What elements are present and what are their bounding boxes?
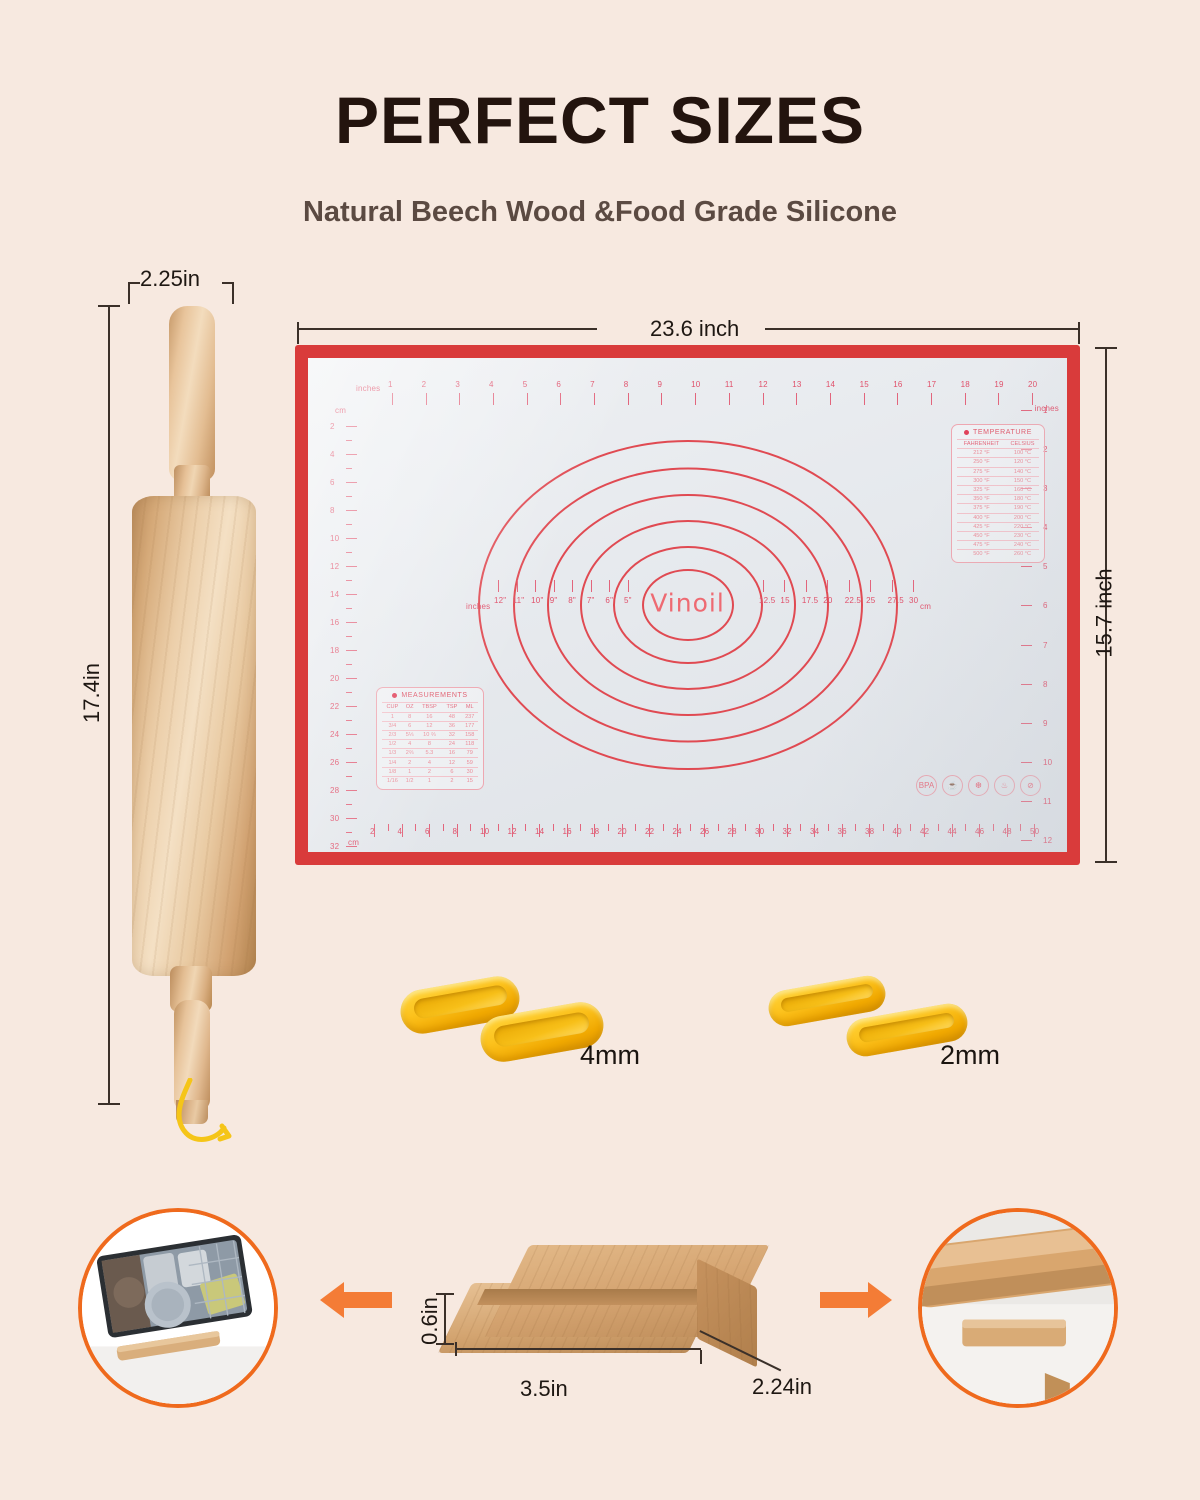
ruler-tick — [763, 393, 764, 405]
ruler-tick-label: 5 — [523, 380, 528, 389]
temperature-row: 450 °F230 °C — [957, 531, 1039, 540]
ruler-minor-tick — [346, 440, 352, 441]
temperature-row: 300 °F150 °C — [957, 476, 1039, 485]
ruler-tick-label: 8 — [1043, 680, 1048, 689]
measurements-cell: 1 — [382, 712, 403, 721]
ruler-tick-label: 27.5 — [888, 596, 904, 605]
phone-on-stand-illustration — [82, 1212, 274, 1404]
measurements-cell: 2 — [417, 767, 443, 776]
ruler-tick — [814, 824, 815, 837]
ruler-tick-label: 5" — [624, 596, 632, 605]
ring-inner-opening — [492, 1011, 590, 1048]
page-subtitle: Natural Beech Wood &Food Grade Silicone — [0, 196, 1200, 229]
stand-width-cap-left — [455, 1342, 457, 1356]
pin-length-cap-bottom — [98, 1103, 120, 1105]
ruler-tick — [842, 824, 843, 837]
ruler-tick-label: 24 — [330, 730, 339, 739]
temperature-cell: 500 °F — [957, 550, 1006, 559]
temperature-cell: 325 °F — [957, 485, 1006, 494]
measurements-cell: 158 — [461, 730, 478, 739]
yellow-hanging-loop-icon — [138, 1078, 258, 1148]
ruler-tick-label: 5 — [1043, 562, 1048, 571]
measurements-table: CUPOZTBSPTSPML 1816482373/4612361772/35⅓… — [382, 702, 478, 785]
ruler-tick — [527, 393, 528, 405]
ruler-tick — [759, 824, 760, 837]
ruler-tick — [426, 393, 427, 405]
ruler-tick — [346, 650, 357, 651]
temperature-cell: 190 °C — [1006, 504, 1039, 513]
beech-wood-rolling-pin-stand — [445, 1245, 785, 1395]
ruler-tick-label: 28 — [330, 786, 339, 795]
thickness-label-2mm: 2mm — [940, 1040, 1000, 1071]
center-inch-scale: 12"11"10"9"8"7"6"5" — [498, 590, 628, 622]
temperature-row: 325 °F160 °C — [957, 485, 1039, 494]
ruler-tick — [1032, 393, 1033, 405]
measurements-cell: 1 — [417, 776, 443, 785]
temperature-table-title: TEMPERATURE — [957, 429, 1039, 439]
measurements-cell: 30 — [461, 767, 478, 776]
temperature-row: 425 °F220 °C — [957, 522, 1039, 531]
temperature-table-body: 212 °F100 °C250 °F120 °C275 °F140 °C300 … — [957, 449, 1039, 559]
temperature-cell: 150 °C — [1006, 476, 1039, 485]
measurements-cell: 1/3 — [382, 749, 403, 758]
temperature-row: 400 °F200 °C — [957, 513, 1039, 522]
ruler-minor-tick — [828, 824, 829, 831]
ruler-tick — [594, 824, 595, 837]
beech-wood-rolling-pin — [110, 300, 300, 1140]
ruler-tick — [374, 824, 375, 837]
ruler-tick — [924, 824, 925, 837]
measurements-column-header: OZ — [403, 703, 417, 712]
silicone-pastry-mat: Vinoil inches inches 1234567891011121314… — [295, 345, 1080, 865]
ruler-minor-tick — [346, 636, 352, 637]
temperature-row: 350 °F180 °C — [957, 495, 1039, 504]
ruler-tick-label: 4 — [489, 380, 494, 389]
ruler-tick — [498, 580, 499, 592]
ruler-minor-tick — [635, 824, 636, 831]
measurements-cell: 32 — [442, 730, 461, 739]
ruler-tick — [849, 580, 850, 592]
bpa-free-icon: BPA — [916, 775, 937, 796]
ruler-tick — [346, 482, 357, 483]
measurements-row: 3/461236177 — [382, 721, 478, 730]
ruler-minor-tick — [346, 692, 352, 693]
ruler-tick — [560, 393, 561, 405]
ruler-tick — [1034, 824, 1035, 837]
ruler-tick — [965, 393, 966, 405]
pin-diameter-bracket-left-down — [128, 282, 130, 304]
measurements-cell: 36 — [442, 721, 461, 730]
top-ruler: 1234567891011121314151617181920 — [392, 380, 1032, 414]
ruler-minor-tick — [346, 496, 352, 497]
ruler-tick-label: 13 — [792, 380, 801, 389]
stand-depth-label: 2.24in — [752, 1374, 812, 1400]
bottom-left-cm-unit: cm — [348, 838, 359, 847]
stand-height-line — [444, 1293, 446, 1345]
temperature-row: 212 °F100 °C — [957, 449, 1039, 458]
measurements-cell: 59 — [461, 758, 478, 767]
temperature-cell: 400 °F — [957, 513, 1006, 522]
ruler-tick-label: 6" — [605, 596, 613, 605]
ruler-minor-tick — [910, 824, 911, 831]
temperature-cell: 180 °C — [1006, 495, 1039, 504]
ruler-minor-tick — [993, 824, 994, 831]
measurements-cell: 2 — [442, 776, 461, 785]
ruler-tick — [864, 393, 865, 405]
ruler-tick — [1021, 645, 1032, 646]
mat-width-label: 23.6 inch — [650, 316, 739, 342]
measurements-row: 2/35⅓10 ⅔32158 — [382, 730, 478, 739]
ruler-tick — [346, 426, 357, 427]
measurements-cell: 16 — [442, 749, 461, 758]
mat-width-cap-right — [1078, 322, 1080, 344]
ruler-minor-tick — [346, 524, 352, 525]
ruler-tick — [346, 818, 357, 819]
center-inch-unit: inches — [466, 602, 490, 611]
temperature-table-box: TEMPERATURE FAHRENHEITCELSIUS 212 °F100 … — [951, 424, 1045, 563]
measurements-cell: 15 — [461, 776, 478, 785]
stand-width-cap-right — [700, 1350, 702, 1364]
ruler-tick-label: 8" — [568, 596, 576, 605]
ruler-tick-label: 4 — [330, 450, 335, 459]
ruler-tick — [827, 580, 828, 592]
stand-width-line — [455, 1348, 701, 1350]
temperature-row: 475 °F240 °C — [957, 541, 1039, 550]
measurements-row: 1/32⅔5.31679 — [382, 749, 478, 758]
ruler-minor-tick — [800, 824, 801, 831]
infographic-root: PERFECT SIZES Natural Beech Wood &Food G… — [0, 0, 1200, 1500]
measurements-column-header: TBSP — [417, 703, 443, 712]
measurements-title-text: MEASUREMENTS — [401, 692, 467, 699]
left-ruler: 2468101214161820222426283032 — [330, 426, 364, 846]
ruler-tick — [346, 678, 357, 679]
temperature-row: 250 °F120 °C — [957, 458, 1039, 467]
pin-diameter-label: 2.25in — [140, 266, 200, 292]
ruler-tick-label: 15 — [780, 596, 789, 605]
ruler-tick — [732, 824, 733, 837]
temperature-column-header: FAHRENHEIT — [957, 440, 1006, 449]
stand-height-label: 0.6in — [417, 1297, 443, 1345]
ruler-tick-label: 10 — [330, 534, 339, 543]
temperature-cell: 200 °C — [1006, 513, 1039, 522]
temperature-cell: 260 °C — [1006, 550, 1039, 559]
ruler-tick-label: 12 — [759, 380, 768, 389]
heat-resistant-icon: ♨ — [994, 775, 1015, 796]
temperature-cell: 300 °F — [957, 476, 1006, 485]
ruler-tick-label: 12" — [494, 596, 506, 605]
bullet-dot-icon — [964, 430, 969, 435]
ruler-minor-tick — [346, 720, 352, 721]
ruler-tick — [677, 824, 678, 837]
top-left-cm-unit: cm — [335, 406, 346, 415]
ruler-minor-tick — [883, 824, 884, 831]
ruler-tick-label: 30 — [330, 814, 339, 823]
ruler-tick-label: 9 — [1043, 719, 1048, 728]
measurements-column-header: TSP — [442, 703, 461, 712]
ruler-minor-tick — [938, 824, 939, 831]
mat-width-cap-left — [297, 322, 299, 344]
stand-holding-rolling-pin-photo — [918, 1208, 1118, 1408]
ruler-minor-tick — [346, 776, 352, 777]
ruler-tick-label: 9" — [550, 596, 558, 605]
ruler-tick-label: 1 — [388, 380, 393, 389]
ruler-tick — [628, 393, 629, 405]
measurements-row: 1/4241259 — [382, 758, 478, 767]
ruler-tick — [346, 538, 357, 539]
temperature-cell: 450 °F — [957, 531, 1006, 540]
ruler-minor-tick — [346, 468, 352, 469]
ruler-tick-label: 8 — [330, 506, 335, 515]
ruler-tick — [892, 580, 893, 592]
ring-inner-opening — [412, 984, 508, 1020]
measurements-cell: 2 — [403, 758, 417, 767]
ruler-tick — [402, 824, 403, 837]
ruler-tick-label: 11" — [513, 596, 525, 605]
brand-logo: Vinoil — [650, 589, 725, 618]
center-cm-unit: cm — [920, 602, 931, 611]
ruler-minor-tick — [443, 824, 444, 831]
ruler-tick-label: 20 — [1028, 380, 1037, 389]
measurements-table-body: 1816482373/4612361772/35⅓10 ⅔321581/2482… — [382, 712, 478, 785]
temperature-cell: 212 °F — [957, 449, 1006, 458]
ruler-tick-label: 18 — [961, 380, 970, 389]
measurements-column-header: CUP — [382, 703, 403, 712]
ruler-tick — [346, 594, 357, 595]
arrow-left-icon — [320, 1278, 392, 1322]
ruler-tick-label: 22.5 — [845, 596, 861, 605]
ruler-minor-tick — [608, 824, 609, 831]
ruler-minor-tick — [470, 824, 471, 831]
ruler-tick-label: 6 — [330, 478, 335, 487]
measurements-cell: 12 — [417, 721, 443, 730]
ruler-tick — [897, 393, 898, 405]
mat-height-label: 15.7 inch — [1092, 568, 1118, 657]
temperature-table: FAHRENHEITCELSIUS 212 °F100 °C250 °F120 … — [957, 439, 1039, 558]
temperature-cell: 100 °C — [1006, 449, 1039, 458]
ruler-tick — [1021, 684, 1032, 685]
ruler-tick-label: 16 — [893, 380, 902, 389]
ruler-tick — [539, 824, 540, 837]
temperature-cell: 375 °F — [957, 504, 1006, 513]
ruler-tick-label: 12.5 — [759, 596, 775, 605]
ruler-tick-label: 14 — [330, 590, 339, 599]
pin-handle-top — [169, 306, 215, 481]
ruler-minor-tick — [718, 824, 719, 831]
measurements-cell: 2⅔ — [403, 749, 417, 758]
temperature-cell: 160 °C — [1006, 485, 1039, 494]
measurements-cell: 4 — [403, 740, 417, 749]
ruler-tick-label: 17 — [927, 380, 936, 389]
no-knife-icon: ⊘ — [1020, 775, 1041, 796]
ruler-tick — [784, 580, 785, 592]
ruler-minor-tick — [855, 824, 856, 831]
temperature-cell: 250 °F — [957, 458, 1006, 467]
ruler-tick-label: 6 — [1043, 601, 1048, 610]
ruler-minor-tick — [525, 824, 526, 831]
temperature-title-text: TEMPERATURE — [973, 429, 1032, 436]
ruler-tick — [704, 824, 705, 837]
measurements-row: 1/24824118 — [382, 740, 478, 749]
ruler-tick — [346, 762, 357, 763]
measurements-cell: 2/3 — [382, 730, 403, 739]
ruler-tick-label: 18 — [330, 646, 339, 655]
ruler-tick-label: 6 — [556, 380, 561, 389]
mat-surface: Vinoil inches inches 1234567891011121314… — [308, 358, 1067, 852]
ruler-tick — [1021, 801, 1032, 802]
ruler-tick — [346, 566, 357, 567]
ruler-tick-label: 17.5 — [802, 596, 818, 605]
temperature-cell: 140 °C — [1006, 467, 1039, 476]
temperature-row: 275 °F140 °C — [957, 467, 1039, 476]
ruler-tick-label: 12 — [1043, 836, 1052, 845]
thickness-label-4mm: 4mm — [580, 1040, 640, 1071]
stand-height-cap-top — [436, 1293, 454, 1295]
ruler-minor-tick — [346, 748, 352, 749]
measurements-cell: 48 — [442, 712, 461, 721]
ruler-tick — [572, 580, 573, 592]
temperature-row: 500 °F260 °C — [957, 550, 1039, 559]
ruler-tick-label: 15 — [860, 380, 869, 389]
ruler-tick — [661, 393, 662, 405]
ruler-tick — [649, 824, 650, 837]
measurements-row: 181648237 — [382, 712, 478, 721]
ruler-tick — [979, 824, 980, 837]
temperature-cell: 350 °F — [957, 495, 1006, 504]
ruler-tick-label: 2 — [330, 422, 335, 431]
ruler-minor-tick — [415, 824, 416, 831]
ruler-minor-tick — [1020, 824, 1021, 831]
rolling-pin-on-stand-illustration — [922, 1212, 1114, 1404]
pin-length-line — [108, 305, 110, 1105]
temperature-cell: 230 °C — [1006, 531, 1039, 540]
ruler-tick — [346, 706, 357, 707]
ruler-tick-label: 10 — [691, 380, 700, 389]
mat-height-cap-top — [1095, 347, 1117, 349]
ruler-tick — [1007, 824, 1008, 837]
ruler-tick — [628, 580, 629, 592]
ruler-tick-label: 19 — [994, 380, 1003, 389]
ruler-minor-tick — [553, 824, 554, 831]
ruler-tick-label: 1 — [1043, 406, 1048, 415]
temperature-cell: 220 °C — [1006, 522, 1039, 531]
measurements-cell: 1/4 — [382, 758, 403, 767]
measurements-cell: 6 — [403, 721, 417, 730]
stand-width-label: 3.5in — [520, 1376, 568, 1402]
measurements-cell: 10 ⅔ — [417, 730, 443, 739]
measurements-table-box: MEASUREMENTS CUPOZTBSPTSPML 1816482373/4… — [376, 687, 484, 790]
bullet-dot-icon — [392, 693, 397, 698]
ruler-minor-tick — [346, 580, 352, 581]
measurements-cell: 1/16 — [382, 776, 403, 785]
ruler-tick-label: 2 — [422, 380, 427, 389]
stand-holding-phone-photo — [78, 1208, 278, 1408]
ruler-tick-label: 20 — [330, 674, 339, 683]
ruler-tick — [952, 824, 953, 837]
top-ruler-unit-left: inches — [356, 384, 380, 393]
mat-width-line-right — [765, 328, 1080, 330]
temperature-cell: 425 °F — [957, 522, 1006, 531]
measurements-cell: 237 — [461, 712, 478, 721]
ruler-minor-tick — [580, 824, 581, 831]
ruler-tick — [429, 824, 430, 837]
ruler-tick-label: 22 — [330, 702, 339, 711]
ruler-tick — [567, 824, 568, 837]
ruler-tick-label: 7 — [1043, 641, 1048, 650]
pin-barrel — [132, 496, 256, 976]
measurements-cell: 1/8 — [382, 767, 403, 776]
ruler-tick — [392, 393, 393, 405]
ruler-tick — [806, 580, 807, 592]
mat-height-cap-bottom — [1095, 861, 1117, 863]
ruler-tick — [517, 580, 518, 592]
ruler-tick-label: 30 — [909, 596, 918, 605]
ruler-minor-tick — [498, 824, 499, 831]
ruler-minor-tick — [346, 832, 352, 833]
ruler-tick — [346, 790, 357, 791]
ruler-tick — [763, 580, 764, 592]
measurements-cell: 118 — [461, 740, 478, 749]
ruler-tick — [554, 580, 555, 592]
ruler-tick — [787, 824, 788, 837]
ruler-minor-tick — [773, 824, 774, 831]
food-safe-icon: ☕ — [942, 775, 963, 796]
ruler-tick — [729, 393, 730, 405]
measurements-cell: 4 — [417, 758, 443, 767]
ruler-tick — [931, 393, 932, 405]
ruler-tick-label: 11 — [1043, 797, 1052, 806]
bottom-ruler: 2468101214161820222426283032343638404244… — [374, 810, 1034, 840]
ruler-tick — [346, 734, 357, 735]
ruler-tick-label: 7 — [590, 380, 595, 389]
ruler-minor-tick — [965, 824, 966, 831]
ruler-tick-label: 16 — [330, 618, 339, 627]
ruler-tick — [346, 454, 357, 455]
stand-cradle-groove — [477, 1289, 713, 1305]
ruler-tick — [493, 393, 494, 405]
measurements-cell: 8 — [417, 740, 443, 749]
ruler-tick-label: 32 — [330, 842, 339, 851]
ruler-tick-label: 14 — [826, 380, 835, 389]
ruler-minor-tick — [745, 824, 746, 831]
ruler-tick — [591, 580, 592, 592]
care-symbols-group: BPA☕❆♨⊘ — [916, 775, 1041, 796]
measurements-cell: 6 — [442, 767, 461, 776]
ruler-tick — [1021, 723, 1032, 724]
ruler-tick-label: 11 — [725, 380, 734, 389]
ruler-tick-label: 12 — [330, 562, 339, 571]
pin-length-label: 17.4in — [79, 663, 105, 723]
ruler-tick-label: 8 — [624, 380, 629, 389]
ruler-tick — [484, 824, 485, 837]
ruler-tick — [1021, 566, 1032, 567]
ruler-tick — [869, 824, 870, 837]
ring-inner-opening — [858, 1012, 955, 1043]
ruler-tick — [830, 393, 831, 405]
measurements-cell: 5.3 — [417, 749, 443, 758]
ruler-tick — [998, 393, 999, 405]
measurements-cell: 79 — [461, 749, 478, 758]
ruler-tick-label: 20 — [823, 596, 832, 605]
ruler-tick — [913, 580, 914, 592]
ruler-tick — [457, 824, 458, 837]
ruler-tick — [594, 393, 595, 405]
ruler-minor-tick — [346, 608, 352, 609]
ruler-minor-tick — [346, 664, 352, 665]
ruler-tick-label: 26 — [330, 758, 339, 767]
measurements-cell: 8 — [403, 712, 417, 721]
ruler-tick — [512, 824, 513, 837]
arrow-right-icon — [820, 1278, 892, 1322]
